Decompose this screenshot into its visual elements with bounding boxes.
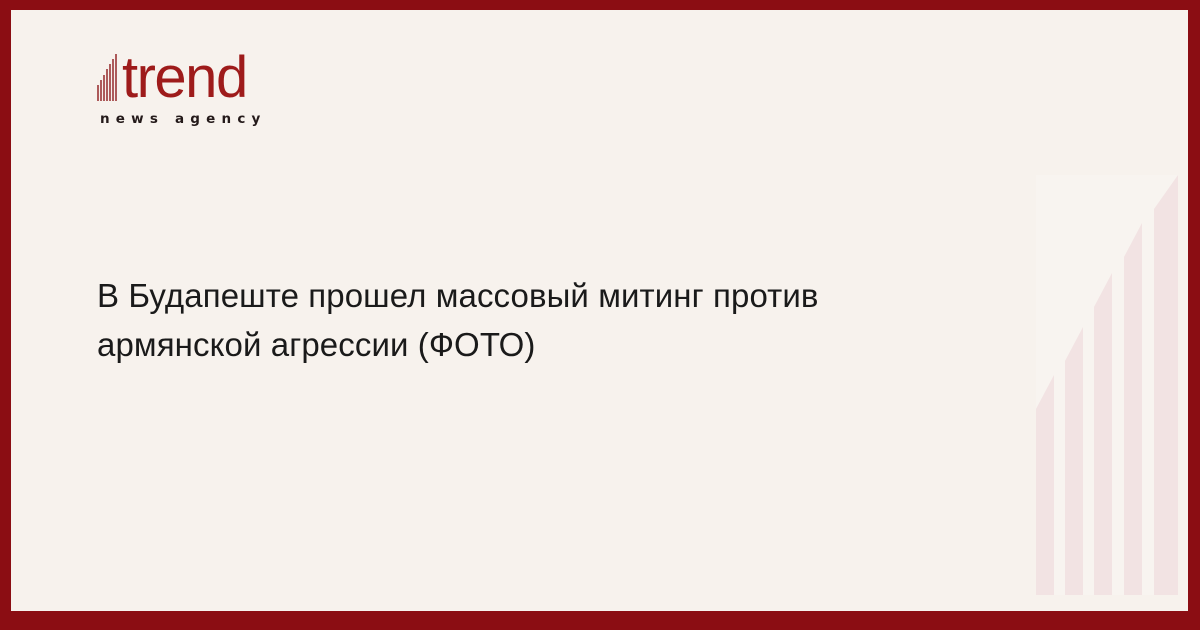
decor-bar-slant: [1065, 327, 1083, 361]
logo-wordmark: trend: [122, 54, 247, 102]
decor-bar-3: [1094, 273, 1112, 595]
decor-bar-slant: [1154, 175, 1178, 209]
logo-bars-icon: [97, 53, 121, 101]
page-title: В Будапеште прошел массовый митинг проти…: [97, 272, 907, 369]
logo-bar-3: [103, 75, 105, 101]
share-card: trend news agency В Будапеште прошел мас…: [0, 0, 1200, 630]
decor-bar-slant: [1036, 375, 1054, 409]
logo-bar-2: [100, 80, 102, 101]
logo-bar-5: [109, 64, 111, 101]
decor-bar-4: [1124, 223, 1142, 595]
ascending-bars-graphic: [1036, 175, 1178, 595]
decor-bar-1: [1036, 375, 1054, 595]
logo-bar-4: [106, 69, 108, 101]
logo-bar-7: [115, 54, 117, 101]
decor-bar-slant: [1094, 273, 1112, 307]
card-canvas: trend news agency В Будапеште прошел мас…: [11, 10, 1188, 611]
decor-bar-5: [1154, 175, 1178, 595]
logo-tagline: news agency: [100, 111, 297, 127]
decor-bar-2: [1065, 327, 1083, 595]
decor-bar-slant: [1124, 223, 1142, 257]
logo-bar-1: [97, 85, 99, 101]
logo-mark: trend: [97, 44, 297, 102]
trend-logo[interactable]: trend news agency: [97, 44, 297, 144]
logo-bar-6: [112, 59, 114, 101]
